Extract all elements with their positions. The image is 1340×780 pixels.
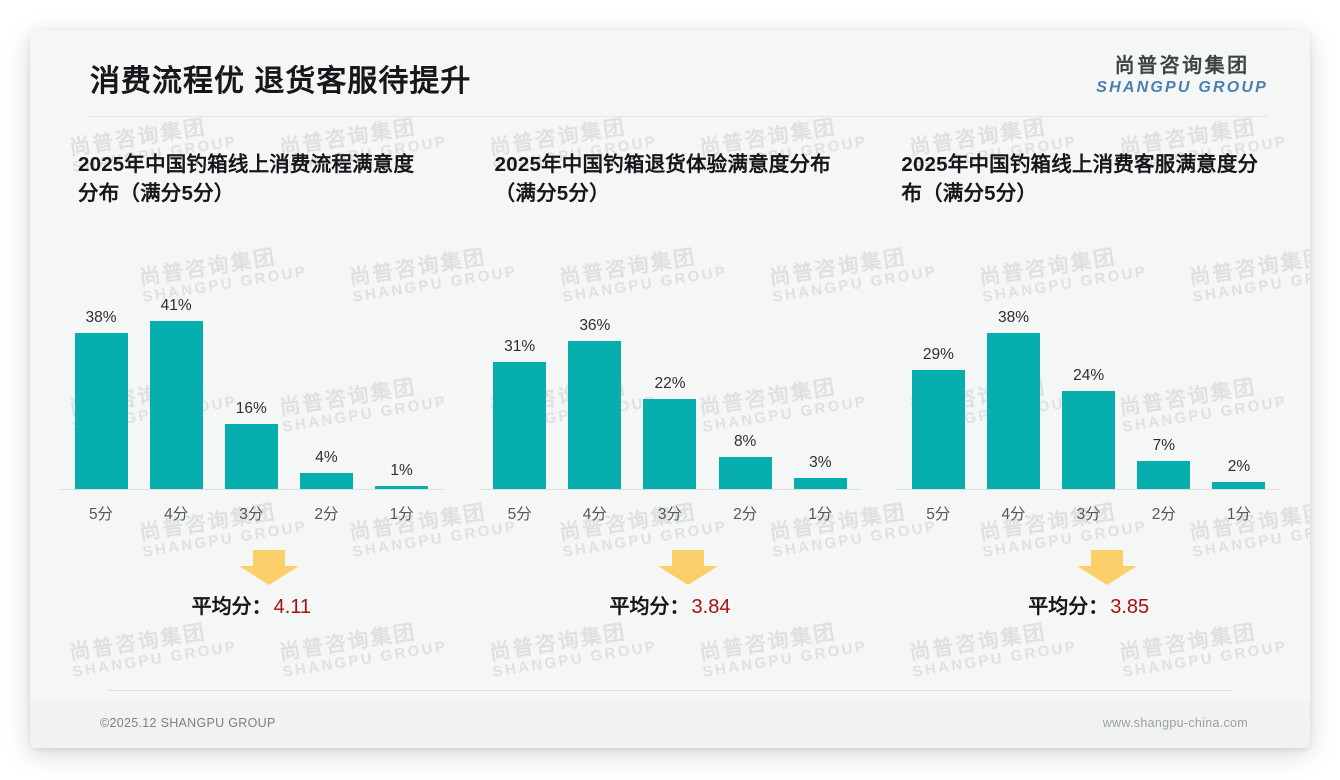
average-score-line: 平均分：3.84	[610, 590, 731, 619]
arrow-head	[658, 566, 718, 585]
x-axis-line	[897, 489, 1280, 490]
bar-rect[interactable]	[643, 399, 696, 490]
logo-english-text: SHANGPU GROUP	[1096, 78, 1268, 97]
bar-rect[interactable]	[150, 321, 203, 490]
bar-item[interactable]: 29%	[905, 258, 971, 490]
bar-value-label: 38%	[85, 309, 116, 327]
page-title: 消费流程优 退货客服待提升	[90, 56, 471, 100]
average-block: 平均分：3.85	[897, 550, 1280, 619]
x-axis-ticks: 5分4分3分2分1分	[60, 502, 443, 524]
slide-footer: ©2025.12 SHANGPU GROUP www.shangpu-china…	[30, 702, 1310, 748]
charts-row: 2025年中国钓箱线上消费流程满意度分布（满分5分）38%41%16%4%1%5…	[42, 150, 1298, 670]
slide-header: 消费流程优 退货客服待提升 尚普咨询集团 SHANGPU GROUP	[30, 30, 1310, 118]
copyright-text: ©2025.12 SHANGPU GROUP	[100, 716, 276, 730]
bar-item[interactable]: 7%	[1131, 258, 1197, 490]
x-tick-label: 2分	[712, 502, 778, 524]
average-score-label: 平均分：	[1028, 596, 1108, 618]
x-axis-line	[479, 489, 862, 490]
logo-chinese-text: 尚普咨询集团	[1096, 55, 1268, 78]
chart-plot-area: 31%36%22%8%3%	[479, 258, 862, 490]
website-link[interactable]: www.shangpu-china.com	[1103, 716, 1248, 730]
bar-item[interactable]: 41%	[143, 258, 209, 490]
chart-panel-2: 2025年中国钓箱退货体验满意度分布（满分5分）31%36%22%8%3%5分4…	[461, 150, 880, 670]
bar-item[interactable]: 16%	[218, 258, 284, 490]
bar-value-label: 38%	[998, 309, 1029, 327]
x-axis-ticks: 5分4分3分2分1分	[479, 502, 862, 524]
arrow-head	[239, 566, 299, 585]
bar-value-label: 31%	[504, 338, 535, 356]
bar-value-label: 36%	[579, 317, 610, 335]
down-arrow-icon	[1077, 550, 1137, 584]
brand-logo: 尚普咨询集团 SHANGPU GROUP	[1096, 55, 1268, 97]
bar-value-label: 29%	[923, 346, 954, 364]
arrow-head	[1077, 566, 1137, 585]
x-tick-label: 3分	[1056, 502, 1122, 524]
bar-rect[interactable]	[1137, 461, 1190, 490]
x-tick-label: 1分	[1206, 502, 1272, 524]
x-tick-label: 2分	[293, 502, 359, 524]
chart-panel-3: 2025年中国钓箱线上消费客服满意度分布（满分5分）29%38%24%7%2%5…	[879, 150, 1298, 670]
bar-item[interactable]: 22%	[637, 258, 703, 490]
x-axis-ticks: 5分4分3分2分1分	[897, 502, 1280, 524]
header-divider	[88, 116, 1268, 117]
x-tick-label: 5分	[68, 502, 134, 524]
bar-rect[interactable]	[493, 362, 546, 490]
bar-item[interactable]: 2%	[1206, 258, 1272, 490]
x-axis-line	[60, 489, 443, 490]
bar-value-label: 7%	[1153, 437, 1175, 455]
x-tick-label: 3分	[637, 502, 703, 524]
bar-rect[interactable]	[719, 457, 772, 490]
footnote-divider	[108, 690, 1232, 691]
bar-value-label: 22%	[654, 375, 685, 393]
bar-value-label: 1%	[390, 462, 412, 480]
bar-rect[interactable]	[75, 333, 128, 490]
average-score-line: 平均分：3.85	[1028, 590, 1149, 619]
chart-title: 2025年中国钓箱退货体验满意度分布（满分5分）	[479, 150, 862, 212]
bar-item[interactable]: 4%	[293, 258, 359, 490]
bar-rect[interactable]	[568, 341, 621, 490]
bar-value-label: 24%	[1073, 367, 1104, 385]
x-tick-label: 1分	[787, 502, 853, 524]
average-score-value: 4.11	[274, 596, 311, 618]
bar-value-label: 2%	[1228, 458, 1250, 476]
slide-card: 尚普咨询集团SHANGPU GROUP尚普咨询集团SHANGPU GROUP尚普…	[30, 30, 1310, 748]
average-block: 平均分：4.11	[60, 550, 443, 619]
x-tick-label: 4分	[981, 502, 1047, 524]
bar-value-label: 3%	[809, 454, 831, 472]
x-tick-label: 4分	[562, 502, 628, 524]
bar-item[interactable]: 1%	[369, 258, 435, 490]
bar-value-label: 4%	[315, 449, 337, 467]
bar-rect[interactable]	[225, 424, 278, 490]
average-block: 平均分：3.84	[479, 550, 862, 619]
average-score-label: 平均分：	[610, 596, 690, 618]
down-arrow-icon	[239, 550, 299, 584]
x-tick-label: 5分	[487, 502, 553, 524]
chart-title: 2025年中国钓箱线上消费客服满意度分布（满分5分）	[897, 150, 1280, 212]
bar-item[interactable]: 38%	[68, 258, 134, 490]
x-tick-label: 2分	[1131, 502, 1197, 524]
bar-rect[interactable]	[912, 370, 965, 490]
slide-stage: 尚普咨询集团SHANGPU GROUP尚普咨询集团SHANGPU GROUP尚普…	[0, 0, 1340, 780]
x-tick-label: 5分	[905, 502, 971, 524]
bar-item[interactable]: 36%	[562, 258, 628, 490]
bar-item[interactable]: 38%	[981, 258, 1047, 490]
bar-item[interactable]: 8%	[712, 258, 778, 490]
chart-title: 2025年中国钓箱线上消费流程满意度分布（满分5分）	[60, 150, 443, 212]
chart-plot-area: 29%38%24%7%2%	[897, 258, 1280, 490]
bar-value-label: 8%	[734, 433, 756, 451]
bar-rect[interactable]	[987, 333, 1040, 490]
average-score-value: 3.84	[692, 596, 731, 618]
average-score-label: 平均分：	[192, 596, 272, 618]
bar-group: 29%38%24%7%2%	[905, 258, 1272, 490]
bar-group: 31%36%22%8%3%	[487, 258, 854, 490]
bar-item[interactable]: 31%	[487, 258, 553, 490]
chart-panel-1: 2025年中国钓箱线上消费流程满意度分布（满分5分）38%41%16%4%1%5…	[42, 150, 461, 670]
arrow-shaft	[253, 550, 285, 567]
average-score-value: 3.85	[1110, 596, 1149, 618]
down-arrow-icon	[658, 550, 718, 584]
bar-group: 38%41%16%4%1%	[68, 258, 435, 490]
bar-value-label: 41%	[161, 297, 192, 315]
average-score-line: 平均分：4.11	[192, 590, 311, 619]
x-tick-label: 3分	[218, 502, 284, 524]
bar-rect[interactable]	[1062, 391, 1115, 490]
bar-value-label: 16%	[236, 400, 267, 418]
x-tick-label: 4分	[143, 502, 209, 524]
arrow-shaft	[1091, 550, 1123, 567]
chart-plot-area: 38%41%16%4%1%	[60, 258, 443, 490]
bar-item[interactable]: 3%	[787, 258, 853, 490]
x-tick-label: 1分	[369, 502, 435, 524]
arrow-shaft	[672, 550, 704, 567]
bar-rect[interactable]	[300, 473, 353, 490]
bar-item[interactable]: 24%	[1056, 258, 1122, 490]
